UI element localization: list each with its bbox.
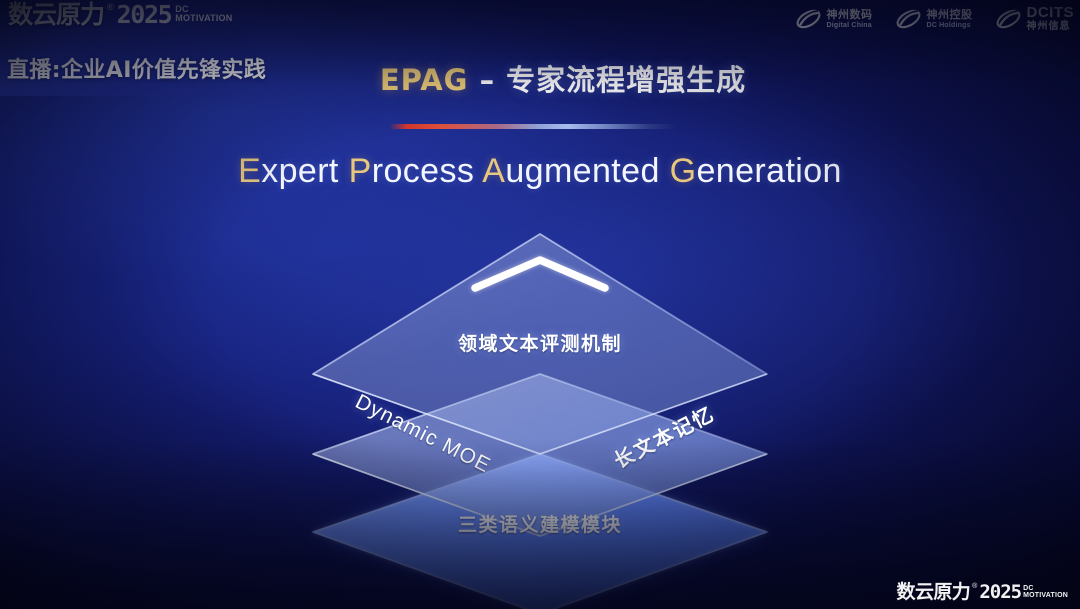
slide-canvas: 数云原力 ® 2025 DC MOTIVATION 直播:企业AI价值先锋实践 … xyxy=(0,0,1080,609)
footer-watermark-logo: 数云原力 ® 2025 DC MOTIVATION xyxy=(897,582,1068,602)
watermark-dc-motivation: DC MOTIVATION xyxy=(1023,582,1068,599)
watermark-dc-line2: MOTIVATION xyxy=(1023,592,1068,599)
registered-mark-icon: ® xyxy=(972,582,977,591)
watermark-dc-line1: DC xyxy=(1023,585,1068,592)
watermark-year: 2025 xyxy=(979,582,1021,602)
background-vignette xyxy=(0,0,1080,609)
watermark-name-cn: 数云原力 xyxy=(897,582,971,602)
